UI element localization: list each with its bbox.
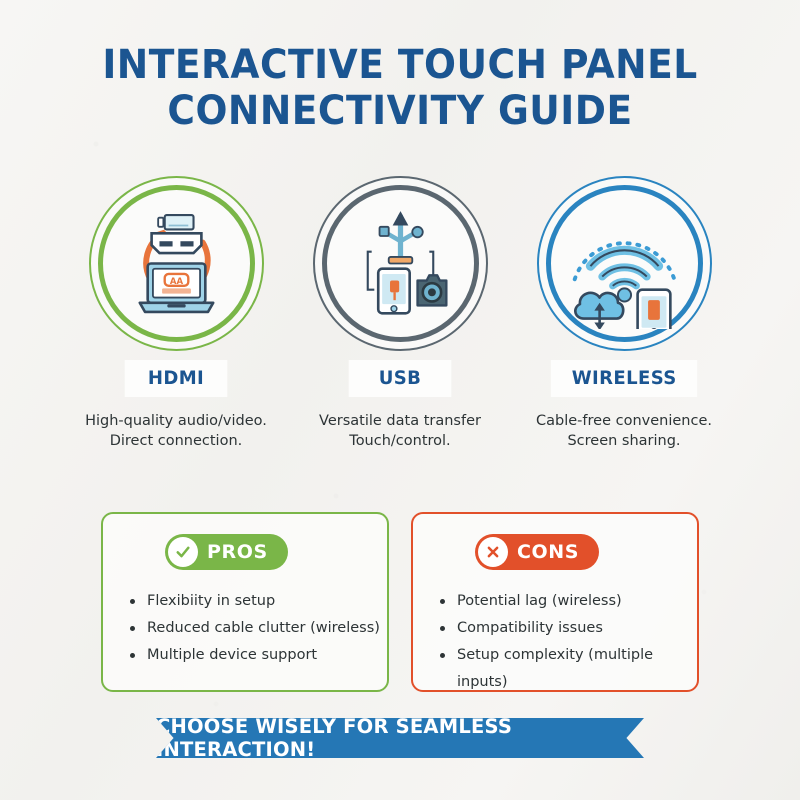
connection-card-usb[interactable]: USB Versatile data transfer Touch/contro… <box>307 176 493 456</box>
footer-banner-text: CHOOSE WISELY FOR SEAMLESS INTERACTION! <box>156 715 644 761</box>
x-circle-icon <box>478 537 508 567</box>
cons-list: Potential lag (wireless) Compatibility i… <box>413 588 697 696</box>
infographic-page: INTERACTIVE TOUCH PANEL CONNECTIVITY GUI… <box>0 0 800 800</box>
title-line-1: INTERACTIVE TOUCH PANEL <box>102 42 697 88</box>
list-item: Compatibility issues <box>439 615 697 642</box>
hdmi-connector-laptop-icon: AA <box>111 198 242 329</box>
wireless-ring <box>537 176 712 351</box>
list-item: Multiple device support <box>129 642 387 669</box>
footer-banner: CHOOSE WISELY FOR SEAMLESS INTERACTION! <box>156 718 644 758</box>
hdmi-desc-line-2: Direct connection. <box>85 431 267 451</box>
connection-cards: AA HDMI High-quality audio/video. Direct… <box>0 176 800 456</box>
pros-list: Flexibiity in setup Reduced cable clutte… <box>103 588 387 669</box>
wireless-desc-line-1: Cable-free convenience. <box>536 411 712 431</box>
check-circle-icon <box>168 537 198 567</box>
usb-trident-devices-icon <box>335 198 466 329</box>
usb-desc-line-2: Touch/control. <box>319 431 481 451</box>
usb-desc-line-1: Versatile data transfer <box>319 411 481 431</box>
list-item: Setup complexity (multiple inputs) <box>439 642 697 696</box>
hdmi-ring: AA <box>89 176 264 351</box>
list-item: Reduced cable clutter (wireless) <box>129 615 387 642</box>
usb-label: USB <box>379 367 422 389</box>
wireless-label-chip: WIRELESS <box>551 360 698 397</box>
usb-description: Versatile data transfer Touch/control. <box>319 411 481 451</box>
cons-box: CONS Potential lag (wireless) Compatibil… <box>411 512 699 692</box>
footer-banner-wrap: CHOOSE WISELY FOR SEAMLESS INTERACTION! <box>0 718 800 758</box>
list-item: Flexibiity in setup <box>129 588 387 615</box>
connection-card-wireless[interactable]: WIRELESS Cable-free convenience. Screen … <box>531 176 717 456</box>
hdmi-label: HDMI <box>148 367 204 389</box>
page-title: INTERACTIVE TOUCH PANEL CONNECTIVITY GUI… <box>24 42 776 134</box>
pros-cons-section: PROS Flexibiity in setup Reduced cable c… <box>0 512 800 692</box>
usb-ring <box>313 176 488 351</box>
list-item: Potential lag (wireless) <box>439 588 697 615</box>
usb-label-chip: USB <box>349 360 452 397</box>
wireless-desc-line-2: Screen sharing. <box>536 431 712 451</box>
wireless-label: WIRELESS <box>572 367 677 389</box>
pros-badge-label: PROS <box>207 541 268 563</box>
pros-box: PROS Flexibiity in setup Reduced cable c… <box>101 512 389 692</box>
hdmi-description: High-quality audio/video. Direct connect… <box>85 411 267 451</box>
wireless-description: Cable-free convenience. Screen sharing. <box>536 411 712 451</box>
svg-text:AA: AA <box>169 277 183 287</box>
hdmi-label-chip: HDMI <box>125 360 228 397</box>
cons-badge-label: CONS <box>517 541 579 563</box>
cons-badge: CONS <box>475 534 599 570</box>
hdmi-desc-line-1: High-quality audio/video. <box>85 411 267 431</box>
pros-badge: PROS <box>165 534 288 570</box>
title-line-2: CONNECTIVITY GUIDE <box>24 88 776 134</box>
connection-card-hdmi[interactable]: AA HDMI High-quality audio/video. Direct… <box>83 176 269 456</box>
wifi-cloud-phone-icon <box>559 198 690 329</box>
